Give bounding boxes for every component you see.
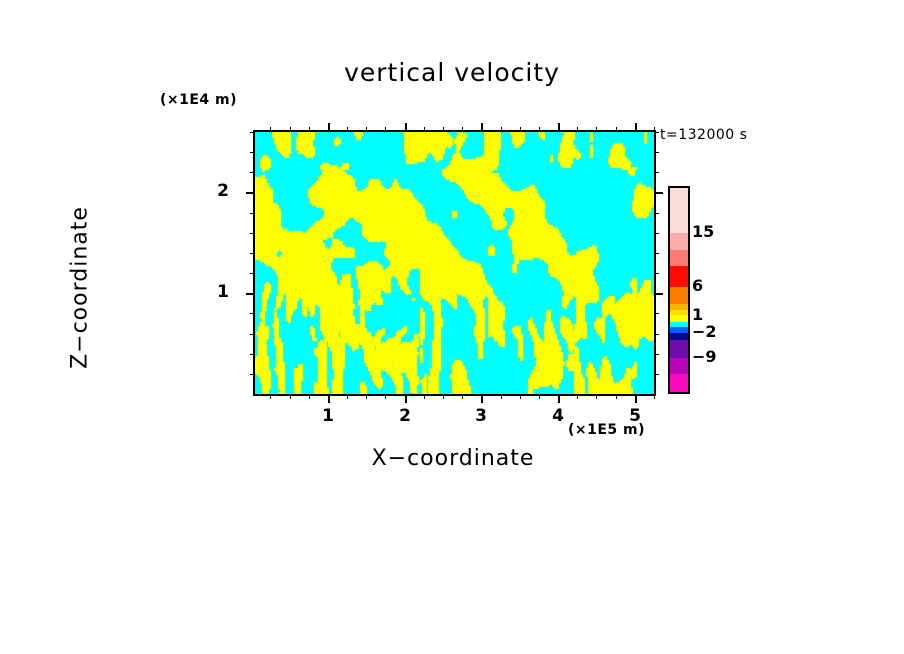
x-tick-label: 2 bbox=[385, 406, 425, 426]
colorbar-band bbox=[670, 287, 688, 304]
axis-tick bbox=[347, 127, 348, 132]
axis-tick bbox=[654, 132, 659, 133]
axis-tick bbox=[635, 394, 637, 403]
axis-tick bbox=[250, 233, 255, 234]
axis-tick bbox=[246, 293, 255, 295]
colorbar-tick-label: 15 bbox=[692, 222, 714, 241]
axis-tick bbox=[558, 394, 560, 403]
axis-tick bbox=[539, 394, 540, 399]
colorbar-band bbox=[670, 188, 688, 233]
axis-tick bbox=[501, 394, 502, 399]
axis-tick bbox=[654, 192, 663, 194]
contour-field bbox=[255, 132, 654, 394]
axis-tick bbox=[250, 313, 255, 314]
axis-tick bbox=[596, 127, 597, 132]
axis-tick bbox=[520, 127, 521, 132]
colorbar-band bbox=[670, 266, 688, 287]
axis-tick bbox=[577, 127, 578, 132]
axis-tick bbox=[654, 293, 663, 295]
axis-tick bbox=[250, 152, 255, 153]
colorbar-band bbox=[670, 374, 688, 392]
x-tick-label: 4 bbox=[538, 406, 578, 426]
axis-tick bbox=[250, 213, 255, 214]
axis-tick bbox=[405, 394, 407, 403]
axis-tick bbox=[424, 394, 425, 399]
axis-tick bbox=[328, 123, 330, 132]
colorbar-tick-label: 6 bbox=[692, 276, 703, 295]
axis-tick bbox=[250, 172, 255, 173]
axis-tick bbox=[616, 127, 617, 132]
axis-tick bbox=[654, 354, 659, 355]
axis-tick bbox=[520, 394, 521, 399]
plot-area[interactable] bbox=[253, 130, 656, 396]
axis-tick bbox=[462, 394, 463, 399]
axis-tick bbox=[250, 132, 255, 133]
axis-tick bbox=[246, 192, 255, 194]
axis-tick bbox=[443, 127, 444, 132]
x-axis-title: X−coordinate bbox=[253, 446, 653, 471]
axis-tick bbox=[366, 127, 367, 132]
axis-tick bbox=[385, 127, 386, 132]
axis-tick bbox=[616, 394, 617, 399]
axis-tick bbox=[250, 354, 255, 355]
axis-tick bbox=[654, 172, 659, 173]
x-tick-label: 3 bbox=[461, 406, 501, 426]
y-axis-title: Z−coordinate bbox=[68, 148, 93, 428]
axis-tick bbox=[577, 394, 578, 399]
axis-tick bbox=[290, 394, 291, 399]
colorbar[interactable] bbox=[668, 186, 690, 394]
colorbar-band bbox=[670, 315, 688, 322]
axis-tick bbox=[481, 123, 483, 132]
axis-tick bbox=[462, 127, 463, 132]
axis-tick bbox=[654, 213, 659, 214]
axis-tick bbox=[654, 273, 659, 274]
axis-tick bbox=[654, 233, 659, 234]
x-tick-label: 1 bbox=[308, 406, 348, 426]
axis-tick bbox=[270, 394, 271, 399]
axis-tick bbox=[654, 334, 659, 335]
axis-tick bbox=[654, 313, 659, 314]
x-tick-label: 5 bbox=[615, 406, 655, 426]
axis-tick bbox=[443, 394, 444, 399]
page-title: vertical velocity bbox=[0, 58, 904, 87]
colorbar-tick-label: −2 bbox=[692, 322, 717, 341]
axis-tick bbox=[481, 394, 483, 403]
axis-tick bbox=[654, 394, 655, 399]
axis-tick bbox=[250, 334, 255, 335]
axis-tick bbox=[290, 127, 291, 132]
axis-tick bbox=[405, 123, 407, 132]
axis-tick bbox=[250, 253, 255, 254]
axis-tick bbox=[309, 394, 310, 399]
axis-tick bbox=[654, 374, 659, 375]
axis-tick bbox=[654, 253, 659, 254]
colorbar-tick-label: −9 bbox=[692, 347, 717, 366]
axis-tick bbox=[424, 127, 425, 132]
axis-tick bbox=[635, 123, 637, 132]
axis-tick bbox=[654, 152, 659, 153]
axis-tick bbox=[501, 127, 502, 132]
y-tick-label: 2 bbox=[209, 181, 237, 201]
axis-tick bbox=[309, 127, 310, 132]
colorbar-band bbox=[670, 250, 688, 267]
colorbar-band bbox=[670, 358, 688, 375]
axis-tick bbox=[270, 127, 271, 132]
axis-tick bbox=[347, 394, 348, 399]
axis-tick bbox=[250, 273, 255, 274]
axis-tick bbox=[366, 394, 367, 399]
time-annotation: t=132000 s bbox=[660, 127, 747, 143]
colorbar-band bbox=[670, 333, 688, 340]
axis-tick bbox=[250, 374, 255, 375]
colorbar-band bbox=[670, 233, 688, 250]
colorbar-tick-label: 1 bbox=[692, 305, 703, 324]
axis-tick bbox=[328, 394, 330, 403]
axis-tick bbox=[596, 394, 597, 399]
axis-tick bbox=[385, 394, 386, 399]
axis-tick bbox=[539, 127, 540, 132]
y-axis-unit-label: (×1E4 m) bbox=[160, 92, 237, 108]
colorbar-band bbox=[670, 340, 688, 358]
y-tick-label: 1 bbox=[209, 282, 237, 302]
axis-tick bbox=[558, 123, 560, 132]
